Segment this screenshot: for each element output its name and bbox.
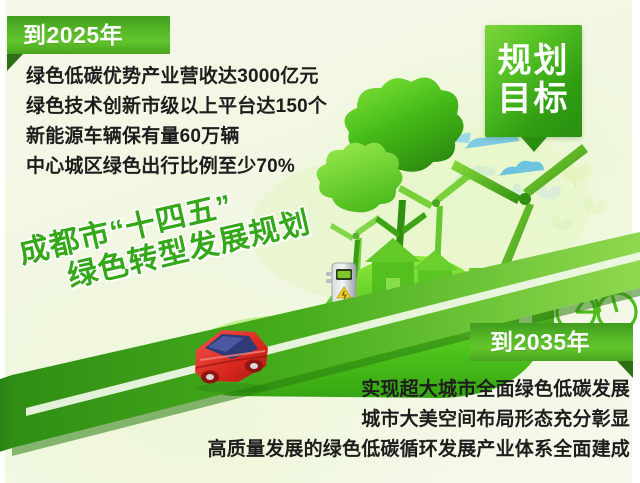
bullet-list-2025: 绿色低碳优势产业营收达3000亿元 绿色技术创新市级以上平台达150个 新能源车… [26, 62, 426, 182]
bullet-item: 高质量发展的绿色低碳循环发展产业体系全面建成 [120, 435, 630, 465]
bullet-item: 绿色技术创新市级以上平台达150个 [26, 92, 426, 122]
ribbon-2025-label: 到2025年 [23, 24, 123, 47]
ribbon-2025: 到2025年 [7, 16, 170, 54]
bullet-item: 中心城区绿色出行比例至少70% [26, 152, 426, 182]
goal-badge-line-1: 规划 [498, 44, 570, 80]
goal-badge-line-2: 目标 [498, 82, 570, 118]
goal-badge-notch [521, 137, 547, 152]
goal-badge-body: 规划 目标 [485, 25, 582, 137]
ribbon-2035-label: 到2035年 [490, 331, 590, 354]
bullet-item: 城市大美空间布局形态充分彰显 [120, 405, 630, 435]
bullet-item: 新能源车辆保有量60万辆 [26, 122, 426, 152]
goal-badge: 规划 目标 [485, 25, 582, 137]
ribbon-2025-fold [7, 54, 23, 71]
ribbon-2025-body: 到2025年 [7, 16, 170, 54]
bullet-list-2035: 实现超大城市全面绿色低碳发展 城市大美空间布局形态充分彰显 高质量发展的绿色低碳… [120, 375, 630, 465]
bullet-item: 绿色低碳优势产业营收达3000亿元 [26, 62, 426, 92]
infographic-poster: 到2025年 绿色低碳优势产业营收达3000亿元 绿色技术创新市级以上平台达15… [0, 0, 640, 483]
ribbon-2035: 到2035年 [470, 323, 633, 361]
bullet-item: 实现超大城市全面绿色低碳发展 [120, 375, 630, 405]
ribbon-2035-body: 到2035年 [470, 323, 633, 361]
